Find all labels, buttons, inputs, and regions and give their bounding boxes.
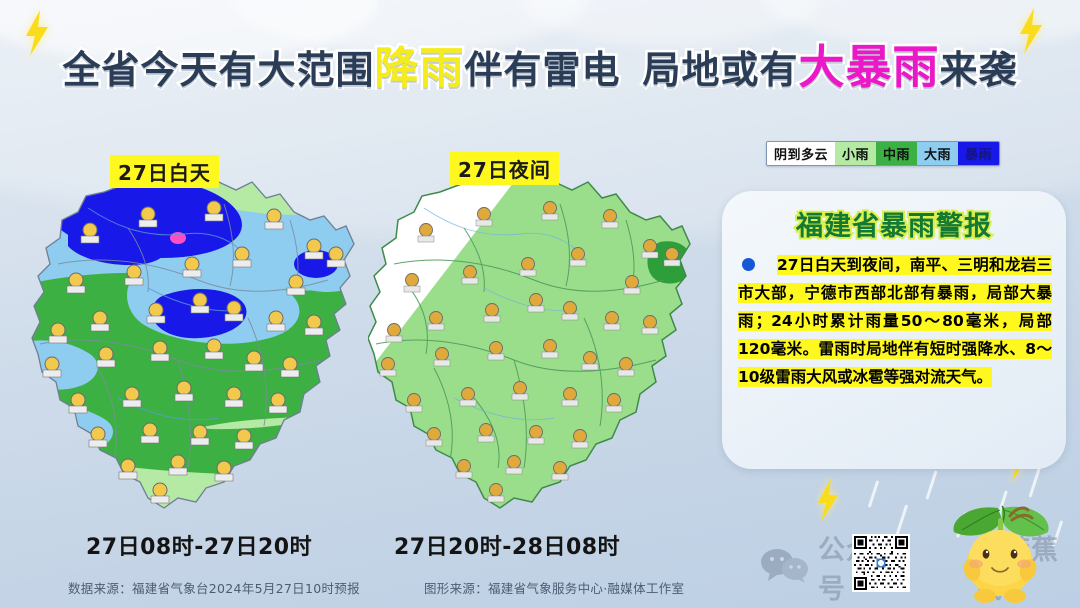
bullet-point-icon [742,258,755,271]
wechat-logo-icon [760,547,810,588]
rainstorm-warning-panel: 福建省暴雨警报 27日白天到夜间，南平、三明和龙岩三市大部，宁德市西部北部有暴雨… [722,191,1066,469]
warning-body-text: 27日白天到夜间，南平、三明和龙岩三市大部，宁德市西部北部有暴雨，局部大暴雨；2… [738,255,1052,387]
headline-part-2: 伴有雷电 [464,51,620,89]
source-figure-text: 图形来源：福建省气象服务中心·融媒体工作室 [424,578,684,597]
warning-panel-body: 27日白天到夜间，南平、三明和龙岩三市大部，宁德市西部北部有暴雨，局部大暴雨；2… [738,251,1052,391]
legend-item-overcast: 阴到多云 [767,142,835,165]
legend-item-moderate-rain: 中雨 [876,142,917,165]
rain-streak [925,470,937,499]
map-fujian-nighttime[interactable] [368,168,718,520]
map-fujian-daytime[interactable] [28,168,388,520]
mascot-character [940,478,1060,608]
qr-code[interactable] [852,534,910,592]
weather-infographic-poster: 全省今天有大范围降雨伴有雷电局地或有大暴雨来袭 阴到多云 小雨 中雨 大雨 暴雨… [0,0,1080,608]
source-data-text: 数据来源：福建省气象台2024年5月27日10时预报 [68,578,360,597]
headline-part-3: 局地或有 [643,51,799,89]
headline-highlight-rain: 降雨 [374,47,464,91]
headline-part-4: 来袭 [940,51,1018,89]
map-label-night: 27日夜间 [450,152,559,185]
legend-label: 小雨 [842,144,869,163]
legend-label: 大雨 [924,144,951,163]
warning-panel-title: 福建省暴雨警报 [722,204,1066,243]
legend-item-rainstorm: 暴雨 [958,142,999,165]
rain-streak [868,480,880,508]
legend-label: 阴到多云 [774,144,828,163]
legend-label: 中雨 [883,144,910,163]
rainfall-legend: 阴到多云 小雨 中雨 大雨 暴雨 [766,141,1000,166]
headline-highlight-rainstorm: 大暴雨 [799,44,940,90]
map-label-day: 27日白天 [110,155,219,188]
legend-label: 暴雨 [965,144,992,163]
legend-item-heavy-rain: 大雨 [917,142,958,165]
legend-item-light-rain: 小雨 [835,142,876,165]
headline-part-1: 全省今天有大范围 [62,51,374,89]
map-caption-day: 27日08时-27日20时 [86,529,312,561]
page-title: 全省今天有大范围降雨伴有雷电局地或有大暴雨来袭 [0,44,1080,91]
map-caption-night: 27日20时-28日08时 [394,529,620,561]
